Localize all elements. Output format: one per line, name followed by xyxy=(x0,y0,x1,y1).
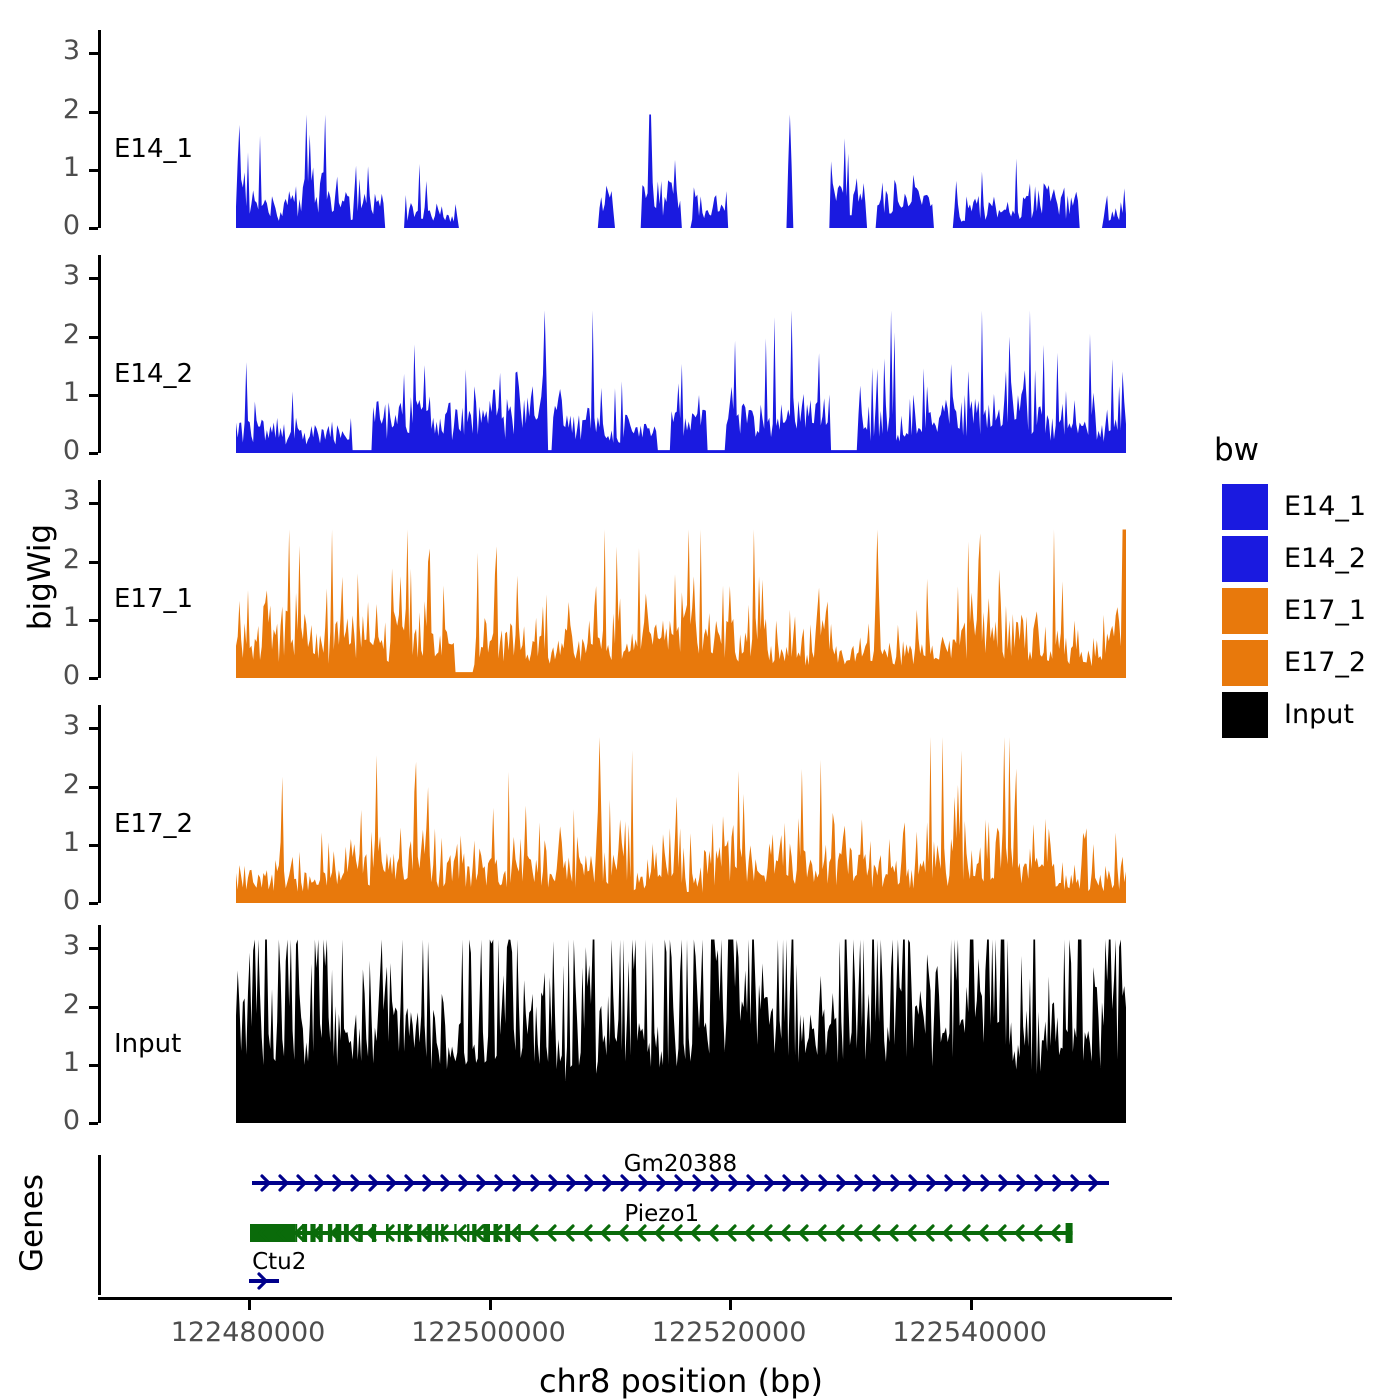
track-label-e17_1: E17_1 xyxy=(114,584,193,614)
figure-root: 0123E14_10123E14_20123E17_10123E17_20123… xyxy=(0,0,1400,1400)
legend-swatch-input[interactable] xyxy=(1222,692,1268,738)
y-tick xyxy=(89,727,98,730)
y-axis-spine xyxy=(98,255,101,453)
x-axis-line xyxy=(98,1297,1172,1300)
y-tick xyxy=(89,1006,98,1009)
y-axis-group-label: bigWig xyxy=(22,447,58,707)
y-tick xyxy=(89,786,98,789)
track-panel-e14_2: 0123E14_2 xyxy=(0,255,1170,453)
track-coverage-e14_1 xyxy=(236,30,1126,228)
track-panel-e17_2: 0123E17_2 xyxy=(0,705,1170,903)
legend-swatch-e14_2[interactable] xyxy=(1222,536,1268,582)
y-tick xyxy=(89,452,98,455)
y-tick-label: 2 xyxy=(18,319,80,350)
y-tick xyxy=(89,277,98,280)
y-tick xyxy=(89,1122,98,1125)
genes-axis-spine xyxy=(98,1155,101,1295)
track-panel-e14_1: 0123E14_1 xyxy=(0,30,1170,228)
track-label-e17_2: E17_2 xyxy=(114,809,193,839)
y-tick xyxy=(89,561,98,564)
y-axis-spine xyxy=(98,30,101,228)
y-tick-label: 0 xyxy=(18,885,80,916)
y-tick-label: 0 xyxy=(18,210,80,241)
legend-swatch-e17_1[interactable] xyxy=(1222,588,1268,634)
genes-panel: Gm20388Piezo1Ctu2 xyxy=(0,1155,1170,1295)
track-coverage-e14_2 xyxy=(236,255,1126,453)
track-coverage-e17_1 xyxy=(236,480,1126,678)
y-tick-label: 1 xyxy=(18,827,80,858)
y-tick xyxy=(89,902,98,905)
y-tick-label: 3 xyxy=(18,710,80,741)
legend-title: bw xyxy=(1214,432,1259,468)
legend-swatch-e17_2[interactable] xyxy=(1222,640,1268,686)
y-axis-spine xyxy=(98,705,101,903)
y-tick-label: 1 xyxy=(18,152,80,183)
track-coverage-input xyxy=(236,925,1126,1123)
y-tick-label: 3 xyxy=(18,930,80,961)
x-tick xyxy=(970,1300,973,1310)
gene-label-gm20388: Gm20388 xyxy=(570,1151,790,1177)
track-label-input: Input xyxy=(114,1029,181,1059)
legend-label-input: Input xyxy=(1284,692,1354,738)
legend-label-e17_1: E17_1 xyxy=(1284,588,1366,634)
y-tick xyxy=(89,227,98,230)
x-tick xyxy=(489,1300,492,1310)
y-tick xyxy=(89,336,98,339)
y-tick xyxy=(89,169,98,172)
y-tick-label: 1 xyxy=(18,377,80,408)
x-tick xyxy=(248,1300,251,1310)
x-tick-label: 122480000 xyxy=(108,1317,388,1348)
y-tick-label: 3 xyxy=(18,35,80,66)
legend-label-e14_2: E14_2 xyxy=(1284,536,1366,582)
y-tick-label: 1 xyxy=(18,1047,80,1078)
y-axis-spine xyxy=(98,480,101,678)
y-tick-label: 3 xyxy=(18,260,80,291)
y-tick xyxy=(89,52,98,55)
x-axis-title: chr8 position (bp) xyxy=(281,1362,1081,1400)
track-label-e14_1: E14_1 xyxy=(114,134,193,164)
y-tick xyxy=(89,677,98,680)
x-tick-label: 122520000 xyxy=(589,1317,869,1348)
y-tick xyxy=(89,844,98,847)
track-coverage-e17_2 xyxy=(236,705,1126,903)
y-tick xyxy=(89,619,98,622)
legend-swatch-e14_1[interactable] xyxy=(1222,484,1268,530)
track-panel-input: 0123Input xyxy=(0,925,1170,1123)
y-axis-spine xyxy=(98,925,101,1123)
y-tick xyxy=(89,947,98,950)
track-panel-e17_1: 0123E17_1 xyxy=(0,480,1170,678)
y-tick xyxy=(89,502,98,505)
y-tick-label: 2 xyxy=(18,94,80,125)
y-tick xyxy=(89,111,98,114)
y-tick-label: 2 xyxy=(18,989,80,1020)
legend-label-e17_2: E17_2 xyxy=(1284,640,1366,686)
y-tick-label: 2 xyxy=(18,769,80,800)
legend-label-e14_1: E14_1 xyxy=(1284,484,1366,530)
y-tick xyxy=(89,394,98,397)
x-tick-label: 122500000 xyxy=(349,1317,629,1348)
gene-label-piezo1: Piezo1 xyxy=(552,1201,772,1227)
x-tick xyxy=(729,1300,732,1310)
genes-group-label: Genes xyxy=(14,1113,50,1333)
y-tick xyxy=(89,1064,98,1067)
x-tick-label: 122540000 xyxy=(830,1317,1110,1348)
track-label-e14_2: E14_2 xyxy=(114,359,193,389)
gene-label-ctu2: Ctu2 xyxy=(169,1249,389,1275)
